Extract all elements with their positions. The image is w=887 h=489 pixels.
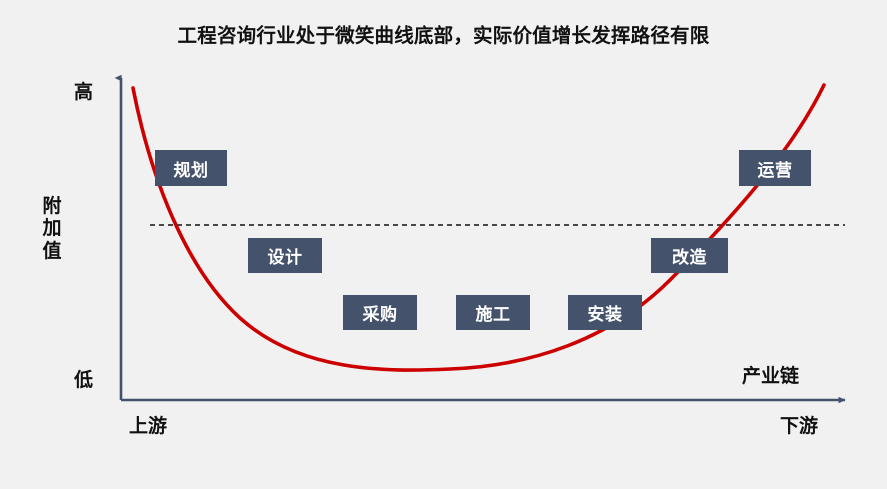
y-axis-low-label: 低 bbox=[74, 365, 93, 392]
stage-box-installation[interactable]: 安装 bbox=[568, 295, 642, 330]
stage-box-construction[interactable]: 施工 bbox=[456, 295, 530, 330]
x-axis-end-label: 下游 bbox=[780, 411, 818, 438]
slide-canvas: 工程咨询行业处于微笑曲线底部，实际价值增长发挥路径有限 高 低 附加值 产业链 … bbox=[0, 0, 887, 489]
stage-box-renovation[interactable]: 改造 bbox=[651, 238, 728, 273]
stage-box-planning[interactable]: 规划 bbox=[155, 150, 227, 186]
x-axis-title: 产业链 bbox=[742, 361, 799, 388]
y-axis-high-label: 高 bbox=[74, 77, 93, 104]
y-axis-title: 附加值 bbox=[40, 196, 64, 263]
stage-box-operation[interactable]: 运营 bbox=[739, 150, 811, 186]
x-axis-start-label: 上游 bbox=[129, 411, 167, 438]
stage-box-procurement[interactable]: 采购 bbox=[343, 295, 417, 330]
stage-box-design[interactable]: 设计 bbox=[248, 238, 322, 273]
